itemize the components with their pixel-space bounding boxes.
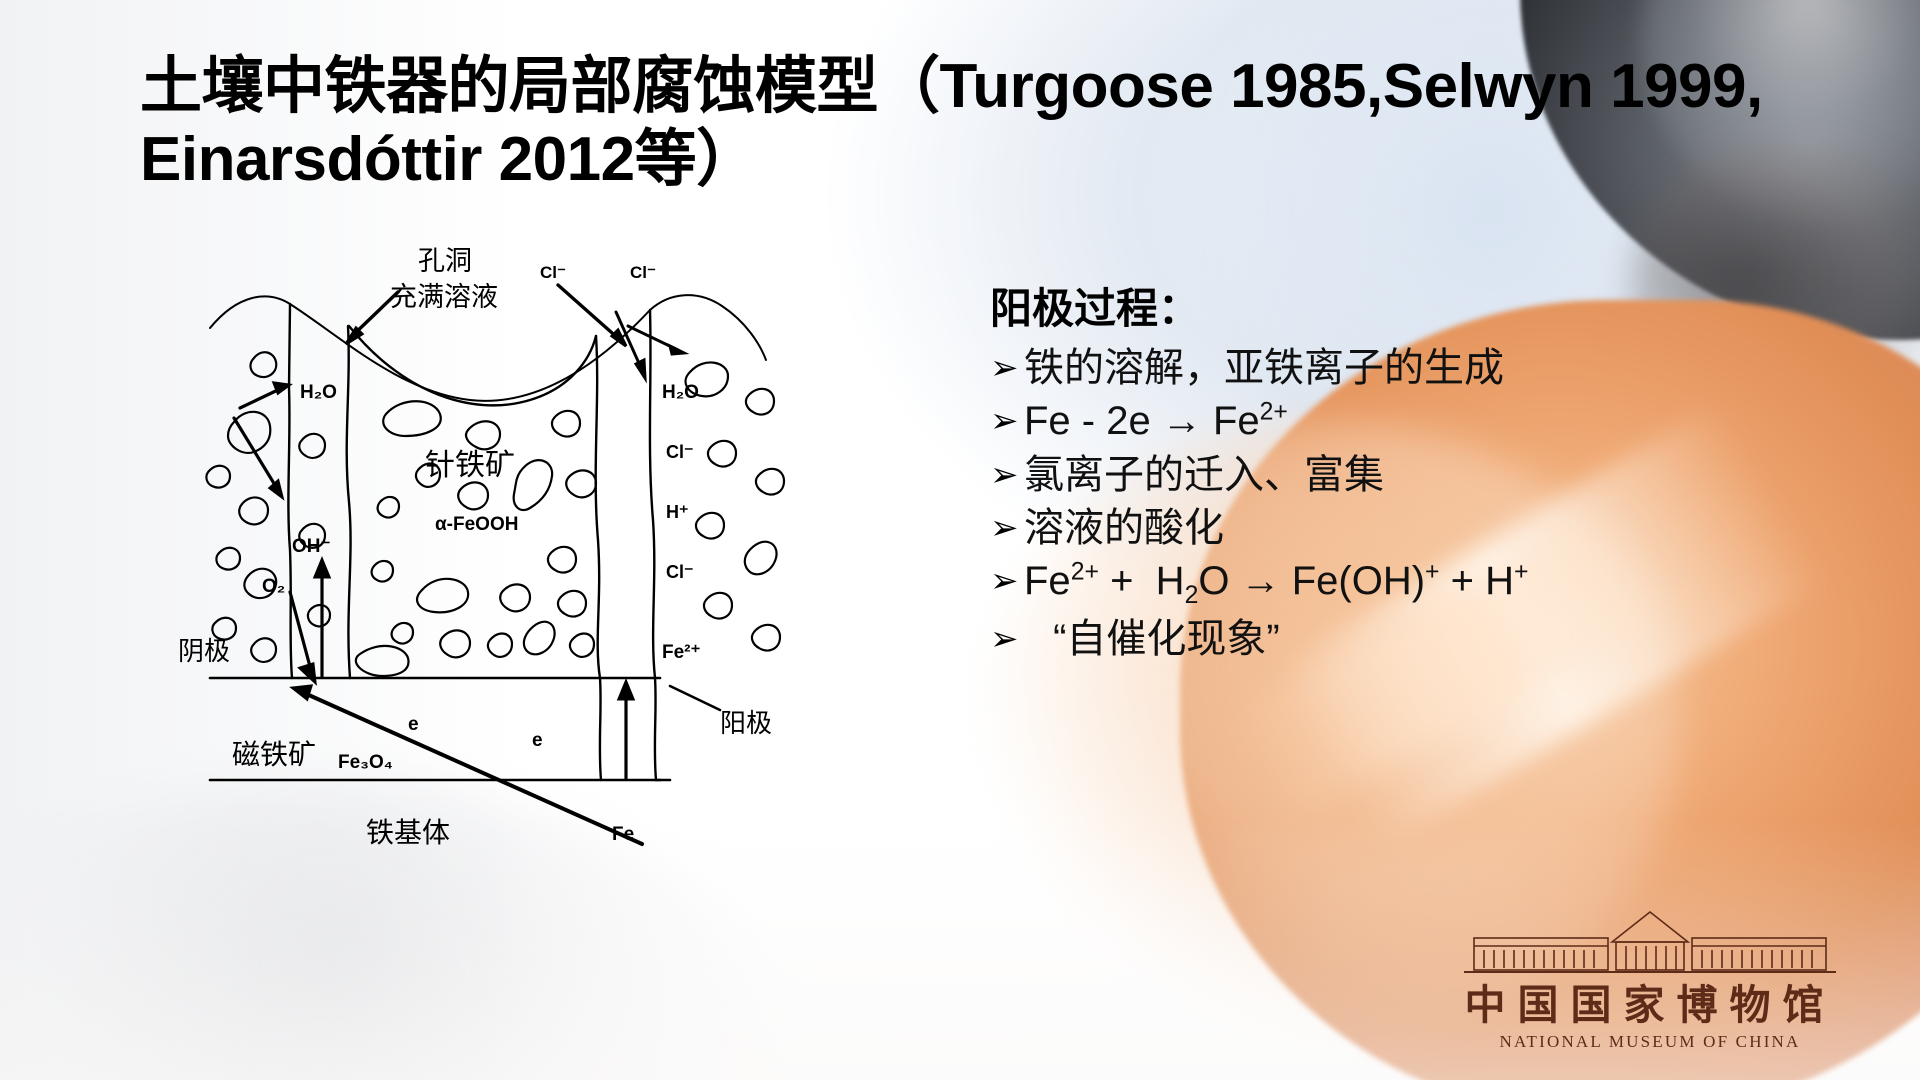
diagram-label-ferrous: Fe²⁺ [662,642,701,663]
diagram-label-goethite: 针铁矿 [425,449,515,482]
museum-name-en: NATIONAL MUSEUM OF CHINA [1440,1032,1860,1052]
bullet-item-solution-acidification: ➢ 溶液的酸化 [990,503,1890,554]
bullet-arrow-icon: ➢ [990,564,1024,598]
diagram-label-iron-substrate: 铁基体 [366,817,450,848]
bullet-item-fe-oxidation: ➢ Fe - 2e → Fe2+ [990,396,1890,447]
diagram-label-electron-1: e [408,714,419,735]
slide-root: 土壤中铁器的局部腐蚀模型（Turgoose 1985,Selwyn 1999, … [0,0,1920,1080]
diagram-label-chloride-top-right: Cl⁻ [630,263,656,282]
diagram-label-oxygen: O₂ [262,576,285,597]
diagram-label-water-left: H₂O [300,382,337,403]
museum-name-cn: 中国国家博物馆 [1440,983,1860,1028]
diagram-label-iron-symbol: Fe [612,824,634,845]
bullet-item-autocatalysis: ➢ “自催化现象” [990,614,1890,665]
diagram-label-pore-line1: 孔洞 [418,246,472,276]
diagram-label-goethite-formula: α-FeOOH [435,514,518,535]
bullet-label: 氯离子的迁入、富集 [1024,450,1384,501]
diagram-label-proton: H⁺ [666,502,689,522]
diagram-label-chloride-low: Cl⁻ [666,562,694,582]
bullet-arrow-icon: ➢ [990,622,1024,656]
diagram-label-electron-2: e [532,730,543,751]
diagram-label-cathode: 阴极 [178,636,230,666]
bullet-item-hydrolysis: ➢ Fe2+ + H2O → Fe(OH)+ + H+ [990,556,1890,612]
bullet-label: 溶液的酸化 [1024,503,1224,554]
museum-building-icon [1440,902,1860,976]
diagram-label-anode: 阳极 [720,708,772,738]
bullet-arrow-icon: ➢ [990,404,1024,438]
corrosion-diagram: 孔洞 充满溶液 Cl⁻ Cl⁻ 土壤 颗粒 H₂O H₂O 针铁矿 α-FeOO… [150,240,870,890]
bullet-arrow-icon: ➢ [990,458,1024,492]
bullet-item-chloride-migration: ➢ 氯离子的迁入、富集 [990,450,1890,501]
diagram-label-magnetite: 磁铁矿 [232,739,316,770]
diagram-label-water-right: H₂O [662,382,699,403]
diagram-label-pore-line2: 充满溶液 [390,282,498,312]
bullet-label: Fe - 2e → Fe2+ [1024,396,1288,447]
bullet-arrow-icon: ➢ [990,511,1024,545]
diagram-label-chloride-mid: Cl⁻ [666,442,694,462]
bullet-arrow-icon: ➢ [990,351,1024,385]
anode-process-block: 阳极过程： ➢ 铁的溶解，亚铁离子的生成 ➢ Fe - 2e → Fe2+ ➢ … [990,285,1890,667]
anode-process-heading: 阳极过程： [990,285,1890,333]
bullet-label: Fe2+ + H2O → Fe(OH)+ + H+ [1024,556,1528,612]
bullet-item-iron-dissolution: ➢ 铁的溶解，亚铁离子的生成 [990,343,1890,394]
diagram-label-chloride-top-left: Cl⁻ [540,263,566,282]
museum-logo: 中国国家博物馆 NATIONAL MUSEUM OF CHINA [1440,902,1860,1052]
diagram-label-hydroxide: OH⁻ [292,536,331,557]
bullet-label: 铁的溶解，亚铁离子的生成 [1024,343,1504,394]
slide-title: 土壤中铁器的局部腐蚀模型（Turgoose 1985,Selwyn 1999, … [140,50,1780,196]
diagram-label-magnetite-formula: Fe₃O₄ [338,752,393,773]
bullet-label: “自催化现象” [1024,614,1280,665]
